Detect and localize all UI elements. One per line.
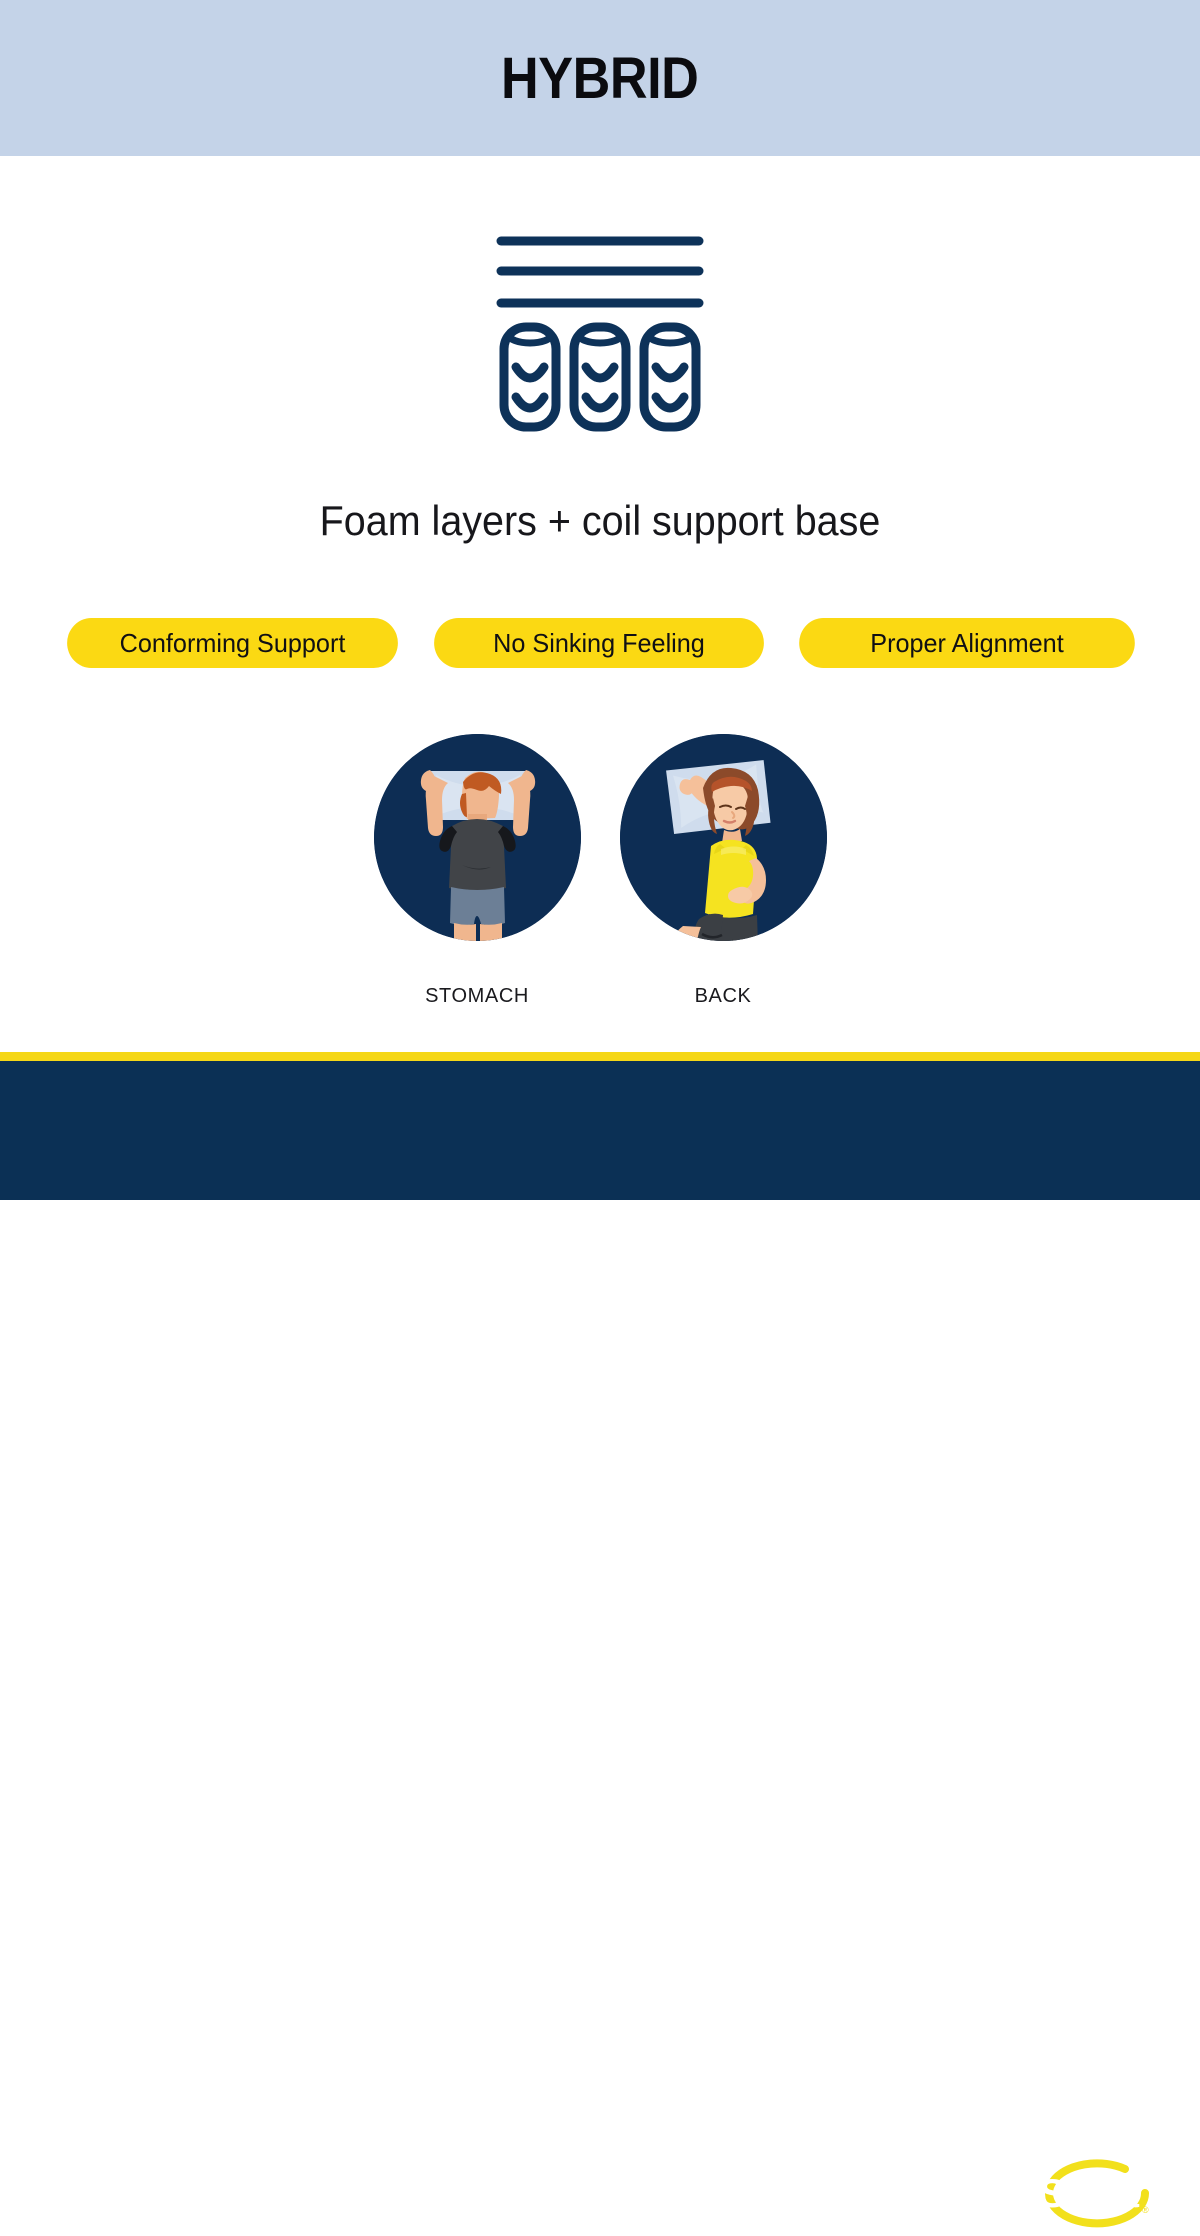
header-band: HYBRID bbox=[0, 0, 1200, 156]
sleep-position-stomach[interactable]: STOMACH bbox=[374, 734, 581, 1008]
sleep-position-back[interactable]: BACK bbox=[620, 734, 827, 1008]
feature-badge-proper-alignment[interactable]: Proper Alignment bbox=[799, 618, 1135, 668]
woman-sleeping-on-back-graphic bbox=[620, 734, 827, 941]
feature-badge-no-sinking-feeling[interactable]: No Sinking Feeling bbox=[434, 618, 764, 668]
feature-badge-conforming-support[interactable]: Conforming Support bbox=[67, 618, 398, 668]
mattress-construction-description: Foam layers + coil support base bbox=[36, 497, 1164, 545]
hybrid-mattress-icon-container bbox=[0, 205, 1200, 435]
serta-wordmark: Serta bbox=[1039, 2172, 1140, 2216]
feature-badge-label: No Sinking Feeling bbox=[493, 628, 705, 659]
page-title: HYBRID bbox=[501, 45, 698, 112]
hybrid-mattress-icon bbox=[490, 205, 710, 435]
hybrid-mattress-infographic: HYBRID bbox=[0, 0, 1200, 1200]
man-sleeping-on-stomach-graphic bbox=[374, 734, 581, 941]
coil-cylinder bbox=[504, 327, 556, 427]
feature-badge-label: Proper Alignment bbox=[870, 628, 1063, 659]
tank-top bbox=[705, 840, 757, 918]
feature-badge-label: Conforming Support bbox=[120, 628, 346, 659]
head bbox=[460, 772, 501, 819]
back-sleeper-illustration bbox=[620, 734, 827, 941]
tshirt bbox=[439, 819, 515, 892]
sleep-position-label: BACK bbox=[695, 985, 752, 1008]
stomach-sleeper-illustration bbox=[374, 734, 581, 941]
coil-cylinder bbox=[644, 327, 696, 427]
serta-logo[interactable]: Serta ® bbox=[1025, 2151, 1160, 2236]
coil-cylinder bbox=[574, 327, 626, 427]
sleep-position-list: STOMACH bbox=[0, 734, 1200, 1008]
footer-band: Serta ® bbox=[0, 1061, 1200, 1200]
feature-badge-list: Conforming Support No Sinking Feeling Pr… bbox=[62, 618, 1140, 668]
trademark-symbol: ® bbox=[1142, 2205, 1149, 2215]
footer-accent-stripe bbox=[0, 1052, 1200, 1061]
sleep-position-label: STOMACH bbox=[425, 985, 529, 1008]
